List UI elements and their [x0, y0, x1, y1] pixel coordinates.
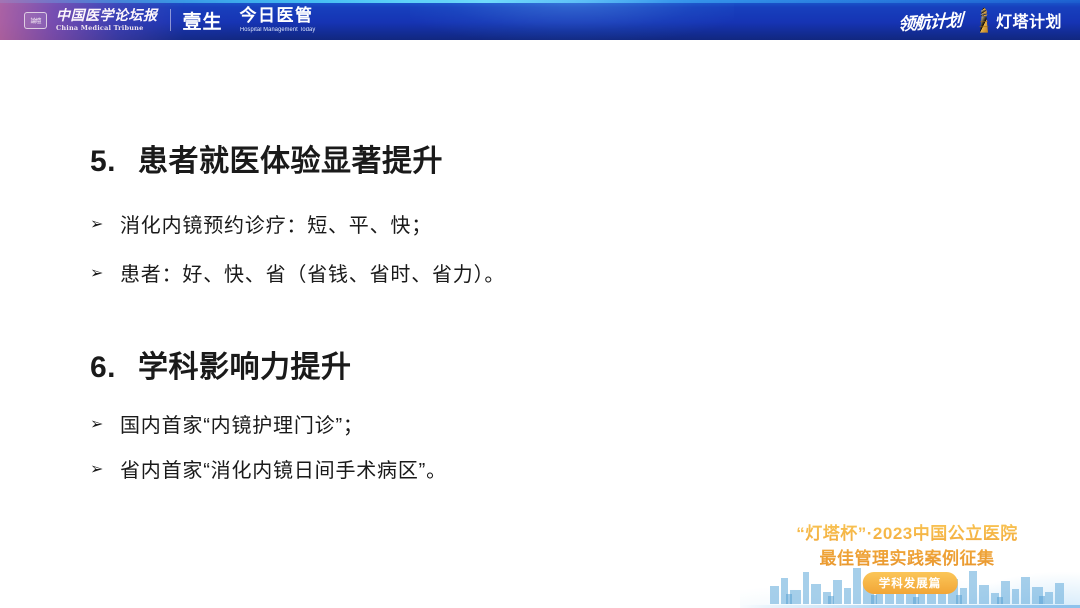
china-medical-tribune-seal-icon: 論壇: [24, 12, 47, 29]
cmt-name-cn: 中国医学论坛报: [56, 9, 158, 23]
bullet-item: ➢ 国内首家“内镜护理门诊”；: [90, 412, 990, 441]
slide-canvas: 5. 患者就医体验显著提升 ➢ 消化内镜预约诊疗：短、平、快； ➢ 患者：好、快…: [0, 40, 1080, 608]
bullet-text: 患者：好、快、省（省钱、省时、省力）。: [120, 261, 505, 290]
section-heading-5: 5. 患者就医体验显著提升: [90, 136, 990, 180]
bullet-text: 消化内镜预约诊疗：短、平、快；: [120, 212, 432, 241]
hmt-name-cn: 今日医管: [240, 7, 318, 24]
bullet-item: ➢ 患者：好、快、省（省钱、省时、省力）。: [90, 261, 990, 290]
bullet-text: 国内首家“内镜护理门诊”；: [120, 412, 364, 441]
banner-left-brand-group: 論壇 中国医学论坛报 China Medical Tribune 壹生 今日医管…: [24, 0, 318, 40]
cmt-name-en: China Medical Tribune: [56, 25, 158, 32]
section-heading-6: 6. 学科影响力提升: [90, 342, 990, 386]
china-medical-tribune-wordmark: 中国医学论坛报 China Medical Tribune: [56, 9, 158, 32]
dengta-plan-logo: 灯塔计划: [976, 7, 1062, 33]
yisheng-logo: 壹生: [183, 7, 223, 34]
section-number-6: 6.: [90, 351, 116, 385]
bullet-text: 省内首家“消化内镜日间手术病区”。: [120, 457, 447, 486]
lighthouse-icon: [976, 7, 992, 33]
section-number-5: 5.: [90, 145, 116, 179]
bullet-arrow-icon: ➢: [90, 457, 120, 482]
bullet-arrow-icon: ➢: [90, 261, 120, 286]
footer-title-line1: “灯塔杯”·2023中国公立医院: [796, 524, 1017, 543]
section-title-6: 学科影响力提升: [138, 342, 352, 386]
top-banner: 論壇 中国医学论坛报 China Medical Tribune 壹生 今日医管…: [0, 0, 1080, 40]
banner-sheen: [410, 0, 734, 40]
slide-content: 5. 患者就医体验显著提升 ➢ 消化内镜预约诊疗：短、平、快； ➢ 患者：好、快…: [90, 136, 990, 486]
footer-campaign-title: “灯塔杯”·2023中国公立医院 最佳管理实践案例征集: [740, 522, 1074, 571]
bullet-item: ➢ 消化内镜预约诊疗：短、平、快；: [90, 212, 990, 241]
bullet-arrow-icon: ➢: [90, 412, 120, 437]
dengta-plan-label: 灯塔计划: [996, 8, 1062, 32]
footer-watermark: “灯塔杯”·2023中国公立医院 最佳管理实践案例征集 学科发展篇: [740, 498, 1080, 608]
brand-divider-1: [170, 9, 171, 31]
hospital-management-today-wordmark: 今日医管 Hospital Management Today: [240, 7, 318, 33]
bullet-item: ➢ 省内首家“消化内镜日间手术病区”。: [90, 457, 990, 486]
linghang-plan-calligraphy: 领航计划: [898, 5, 963, 35]
footer-title-line2: 最佳管理实践案例征集: [740, 547, 1074, 572]
footer-category-badge: 学科发展篇: [863, 572, 958, 594]
hmt-name-en: Hospital Management Today: [240, 27, 315, 33]
bullet-arrow-icon: ➢: [90, 212, 120, 237]
banner-right-brand-group: 领航计划 灯塔计划: [898, 0, 1062, 40]
section-title-5: 患者就医体验显著提升: [138, 136, 443, 180]
